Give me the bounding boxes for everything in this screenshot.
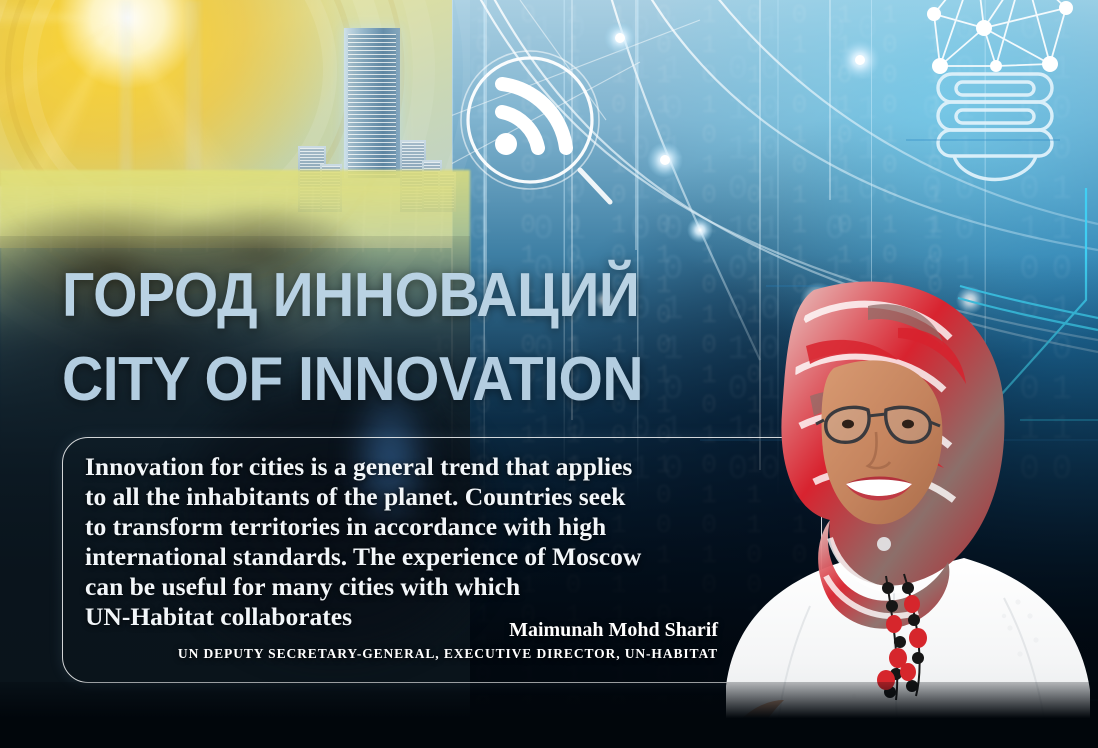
quote-author-role: UN DEPUTY SECRETARY-GENERAL, EXECUTIVE D… [178, 646, 718, 662]
page-title-english: CITY OF INNOVATION [62, 349, 643, 411]
portrait-maimunah-mohd-sharif [718, 276, 1098, 748]
poster-canvas: 0 1 0 1 1 0 1 0 0 1 1 0 1 0 1 1 0 0 1 0 … [0, 0, 1098, 748]
quote-author-name: Maimunah Mohd Sharif [509, 619, 718, 642]
quote-text: Innovation for cities is a general trend… [85, 452, 725, 632]
page-title-russian: ГОРОД ИННОВАЦИЙ [62, 265, 639, 327]
brooch [877, 537, 891, 551]
bottom-black-band [0, 682, 1098, 748]
